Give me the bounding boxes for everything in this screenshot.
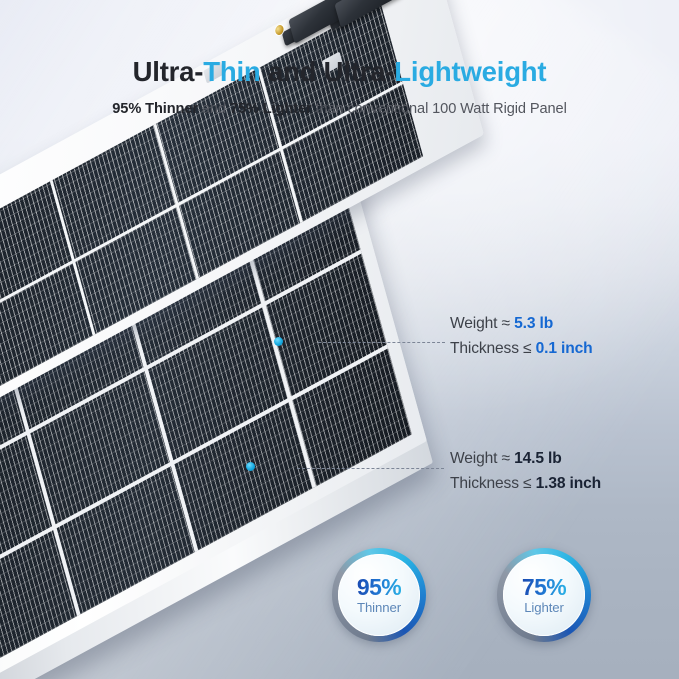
callout-thickness-label: Thickness ≤	[450, 475, 536, 492]
callout-weight-row: Weight ≈ 5.3 lb	[450, 311, 593, 336]
subtitle-tail: than conventional 100 Watt Rigid Panel	[312, 101, 567, 117]
page-subtitle: 95% Thinner and 75% Lighter than convent…	[0, 88, 679, 117]
leader-line-thin-panel	[318, 342, 445, 343]
subtitle-conjunction: and	[198, 101, 230, 117]
badge-thinner-inner: 95% Thinner	[338, 554, 420, 636]
subtitle-stat-lighter: 75% Lighter	[230, 101, 312, 117]
callout-rigid-panel: Weight ≈ 14.5 lb Thickness ≤ 1.38 inch	[450, 446, 601, 497]
callout-thin-panel: Weight ≈ 5.3 lb Thickness ≤ 0.1 inch	[450, 311, 593, 362]
title-accent-thin: Thin	[203, 56, 260, 87]
title-part-2: and Ultra-	[261, 56, 395, 87]
badge-thinner-caption: Thinner	[357, 600, 401, 615]
callout-weight-value: 14.5 lb	[514, 450, 562, 467]
page-title: Ultra-Thin and Ultra-Lightweight	[0, 0, 679, 88]
callout-thickness-row: Thickness ≤ 1.38 inch	[450, 471, 601, 496]
callout-thickness-label: Thickness ≤	[450, 340, 536, 357]
subtitle-stat-thinner: 95% Thinner	[112, 101, 198, 117]
callout-weight-value: 5.3 lb	[514, 315, 553, 332]
callout-weight-label: Weight ≈	[450, 450, 514, 467]
badge-thinner-percent: 95%	[357, 575, 401, 599]
badge-lighter-percent: 75%	[522, 575, 566, 599]
leader-line-rigid-panel	[297, 468, 444, 469]
badge-thinner: 95% Thinner	[332, 548, 426, 642]
callout-thickness-value: 1.38 inch	[536, 475, 601, 492]
title-accent-lightweight: Lightweight	[394, 56, 546, 87]
marker-dot-rigid-panel	[246, 462, 255, 471]
badge-lighter: 75% Lighter	[497, 548, 591, 642]
callout-weight-row: Weight ≈ 14.5 lb	[450, 446, 601, 471]
callout-thickness-row: Thickness ≤ 0.1 inch	[450, 336, 593, 361]
callout-weight-label: Weight ≈	[450, 315, 514, 332]
badge-lighter-inner: 75% Lighter	[503, 554, 585, 636]
header-block: Ultra-Thin and Ultra-Lightweight 95% Thi…	[0, 0, 679, 117]
callout-thickness-value: 0.1 inch	[536, 340, 593, 357]
title-part-1: Ultra-	[133, 56, 204, 87]
marker-dot-thin-panel	[274, 337, 283, 346]
product-infographic: Ultra-Thin and Ultra-Lightweight 95% Thi…	[0, 0, 679, 679]
badge-lighter-caption: Lighter	[524, 600, 564, 615]
